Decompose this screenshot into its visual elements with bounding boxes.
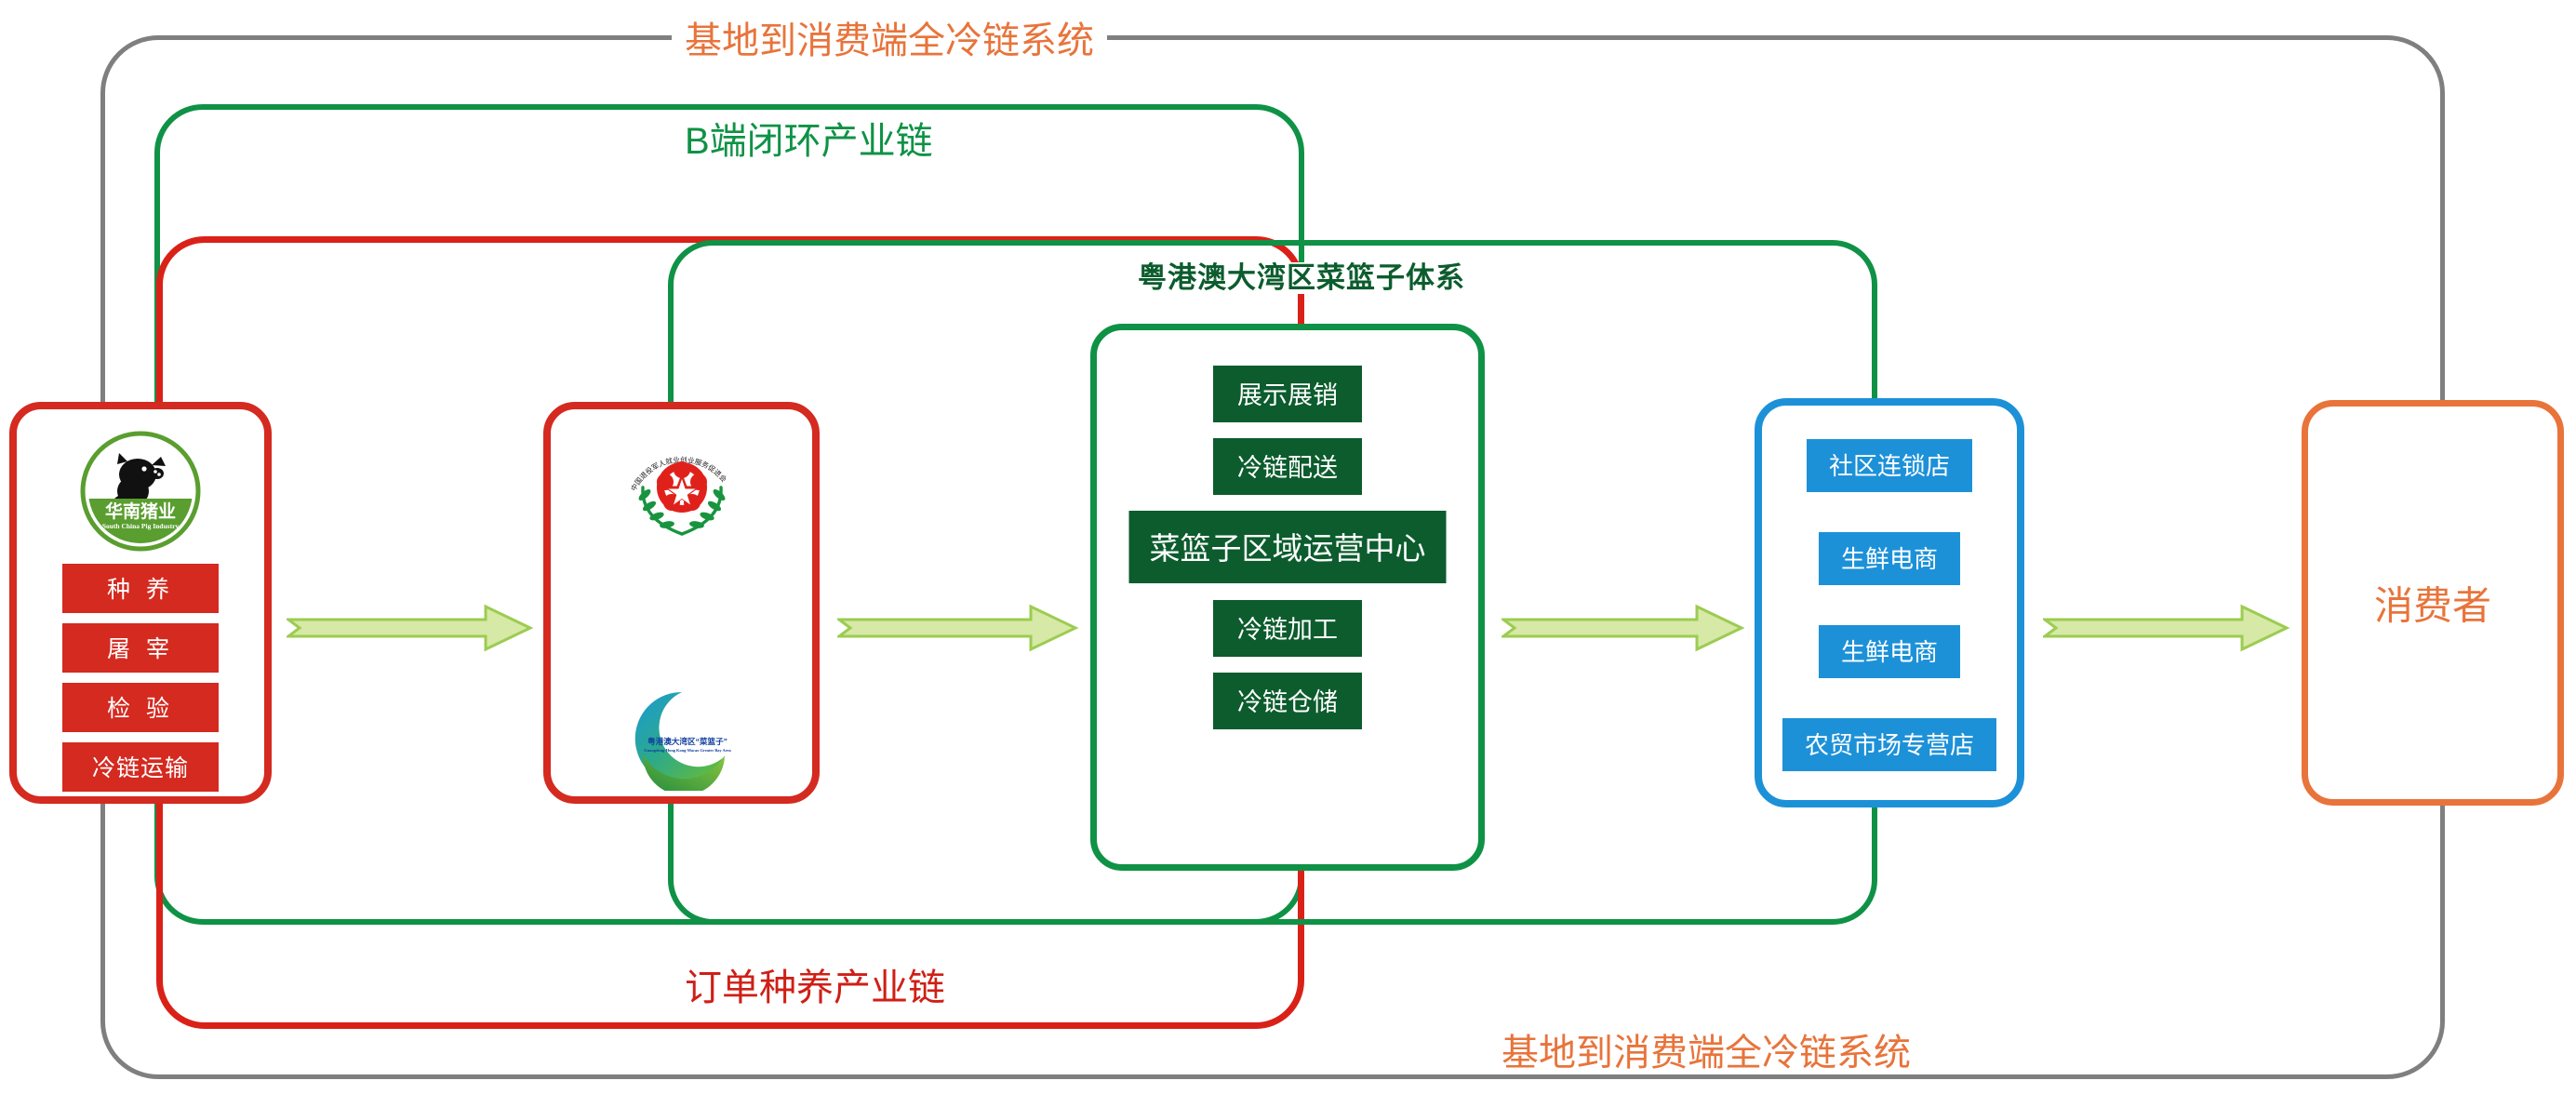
node-vegetable-basket-system[interactable]: 展示展销 冷链配送 菜篮子区域运营中心 冷链加工 冷链仓储 (1090, 324, 1485, 871)
arrow-retail-to-consumer (2043, 603, 2290, 653)
chip-regional-operation-center[interactable]: 菜篮子区域运营中心 (1129, 511, 1447, 583)
production-stage-list: 种 养 屠 宰 检 验 冷链运输 (62, 564, 219, 792)
order-farming-chain-label: 订单种养产业链 (672, 967, 958, 1008)
svg-text:South China Pig Industry: South China Pig Industry (102, 522, 180, 530)
arrow-farm-to-certification (287, 603, 534, 653)
chip-farmers-market-store[interactable]: 农贸市场专营店 (1782, 718, 1996, 771)
node-consumer[interactable]: 消费者 (2302, 400, 2564, 806)
chip-breeding[interactable]: 种 养 (62, 564, 219, 613)
arrow-certification-to-system (837, 603, 1079, 653)
arrow-system-to-retail (1502, 603, 1745, 653)
node-certification[interactable]: 中国退役军人就业创业服务促进会 (543, 402, 820, 804)
svg-text:Guangdong-Hong Kong-Macao Grea: Guangdong-Hong Kong-Macao Greater Bay Ar… (644, 748, 731, 753)
chip-cold-chain-processing[interactable]: 冷链加工 (1213, 600, 1362, 657)
chip-cold-chain-delivery[interactable]: 冷链配送 (1213, 438, 1362, 495)
chip-slaughter[interactable]: 屠 宰 (62, 623, 219, 673)
chip-exhibition-sales[interactable]: 展示展销 (1213, 366, 1362, 422)
top-title-label: 基地到消费端全冷链系统 (672, 20, 1107, 61)
chip-inspection[interactable]: 检 验 (62, 683, 219, 732)
svg-text:粤港澳大湾区“菜篮子”: 粤港澳大湾区“菜篮子” (647, 736, 727, 746)
vegetable-basket-system-title: 粤港澳大湾区菜篮子体系 (1125, 262, 1478, 294)
south-china-pig-industry-logo: 华南猪业 South China Pig Industry (79, 430, 202, 553)
chip-fresh-ecommerce-2[interactable]: 生鲜电商 (1819, 625, 1960, 678)
chip-community-chain-store[interactable]: 社区连锁店 (1807, 439, 1972, 492)
svg-text:华南猪业: 华南猪业 (105, 500, 176, 522)
node-production-base[interactable]: 华南猪业 South China Pig Industry 种 养 屠 宰 检 … (9, 402, 272, 804)
chip-fresh-ecommerce-1[interactable]: 生鲜电商 (1819, 532, 1960, 585)
chip-cold-chain-transport[interactable]: 冷链运输 (62, 742, 219, 792)
b-end-chain-label: B端闭环产业链 (672, 121, 946, 162)
greater-bay-area-vegetable-basket-logo: 粤港澳大湾区“菜篮子” Guangdong-Hong Kong-Macao Gr… (630, 687, 734, 791)
node-retail-channels[interactable]: 社区连锁店 生鲜电商 生鲜电商 农贸市场专营店 (1755, 398, 2024, 807)
veterans-employment-association-logo: 中国退役军人就业创业服务促进会 (617, 432, 747, 545)
bottom-title-label: 基地到消费端全冷链系统 (1488, 1033, 1924, 1074)
consumer-label: 消费者 (2308, 575, 2557, 632)
chip-cold-chain-storage[interactable]: 冷链仓储 (1213, 673, 1362, 729)
diagram-canvas: 基地到消费端全冷链系统 B端闭环产业链 订单种养产业链 基地到消费端全冷链系统 … (0, 0, 2576, 1094)
